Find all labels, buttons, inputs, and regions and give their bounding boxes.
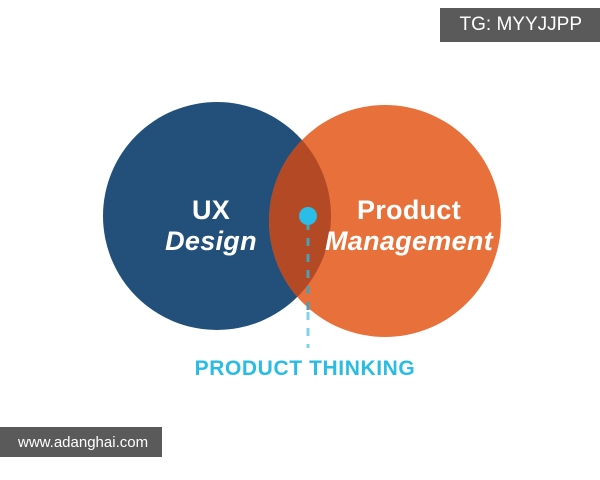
tag-badge-text: TG: MYYJJPP [460,14,582,36]
venn-diagram: UX Design Product Management PRODUCT THI… [0,0,600,480]
watermark-text: www.adanghai.com [18,434,148,451]
product-thinking-caption: PRODUCT THINKING [195,357,416,380]
product-management-label-line2: Management [325,226,494,256]
product-management-label-line1: Product [357,195,461,225]
watermark-badge: www.adanghai.com [0,427,162,457]
tag-badge: TG: MYYJJPP [440,8,600,42]
diagram-canvas: UX Design Product Management PRODUCT THI… [0,0,600,480]
ux-design-label-line1: UX [192,195,230,225]
intersection-marker-dot [299,207,317,225]
ux-design-label-line2: Design [165,226,257,256]
